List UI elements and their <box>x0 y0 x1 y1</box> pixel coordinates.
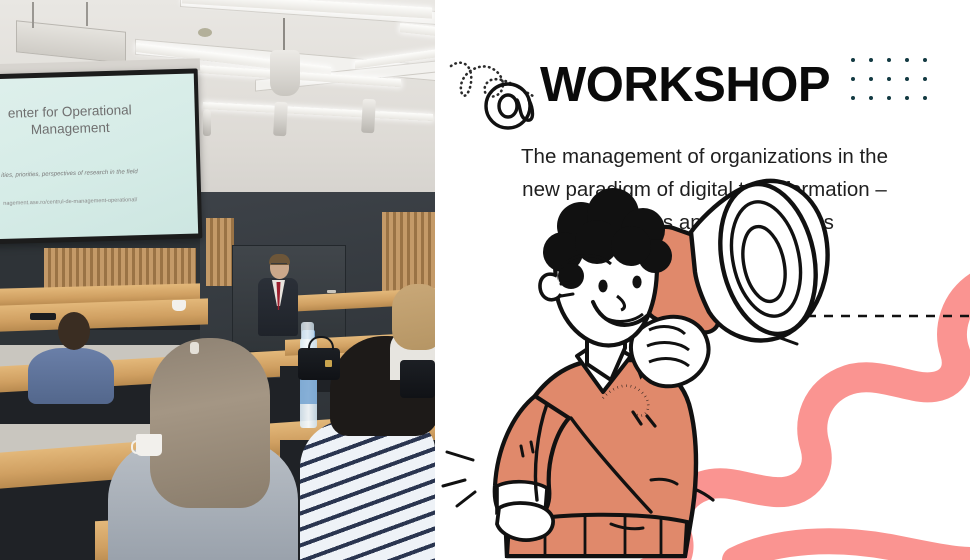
hair-tie <box>190 342 199 354</box>
presenter-glasses <box>271 263 287 267</box>
bottle-label <box>300 378 317 404</box>
eye-right <box>632 276 641 289</box>
slide-subtitle: ities, priorities, perspectives of resea… <box>0 167 193 181</box>
microphone <box>30 313 56 320</box>
audience-member-head <box>58 312 90 350</box>
slide-title: enter for Operational Management <box>0 100 195 141</box>
wooden-slat-wall <box>382 212 435 292</box>
spotlight <box>203 110 211 136</box>
motion-marks-icon <box>443 452 475 506</box>
right-content-panel: WORKSHOP The management of organizations… <box>435 0 970 560</box>
handbag-clasp <box>325 360 332 367</box>
illustration-layer <box>435 0 970 560</box>
pendant-wire <box>283 18 285 51</box>
spotlight <box>361 99 376 134</box>
left-hand <box>497 503 553 540</box>
lecture-hall-photo: enter for Operational Management ities, … <box>0 0 435 560</box>
handbag <box>298 348 340 380</box>
wooden-slat-wall <box>206 218 234 286</box>
handbag <box>400 360 435 398</box>
pink-wave-ribbon-lower <box>735 541 970 560</box>
coffee-cup <box>172 300 186 311</box>
audience-member-hair <box>392 284 435 350</box>
audience-member-body <box>300 420 435 560</box>
cup-handle <box>131 440 142 454</box>
ac-rod <box>86 2 88 26</box>
projection-screen: enter for Operational Management ities, … <box>0 74 198 241</box>
ac-rod <box>32 2 34 28</box>
projection-screen-frame: enter for Operational Management ities, … <box>0 68 202 245</box>
eye-left <box>598 280 607 293</box>
audience-member-hair <box>150 338 270 508</box>
slide-url: nagement.ase.ro/centrul-de-management-op… <box>0 196 193 209</box>
spotlight <box>273 102 288 137</box>
smoke-detector <box>198 28 212 37</box>
audience-member-body <box>28 348 114 404</box>
workshop-poster: enter for Operational Management ities, … <box>0 0 970 560</box>
pendant-lamp <box>270 50 300 96</box>
at-symbol-icon <box>486 84 533 128</box>
